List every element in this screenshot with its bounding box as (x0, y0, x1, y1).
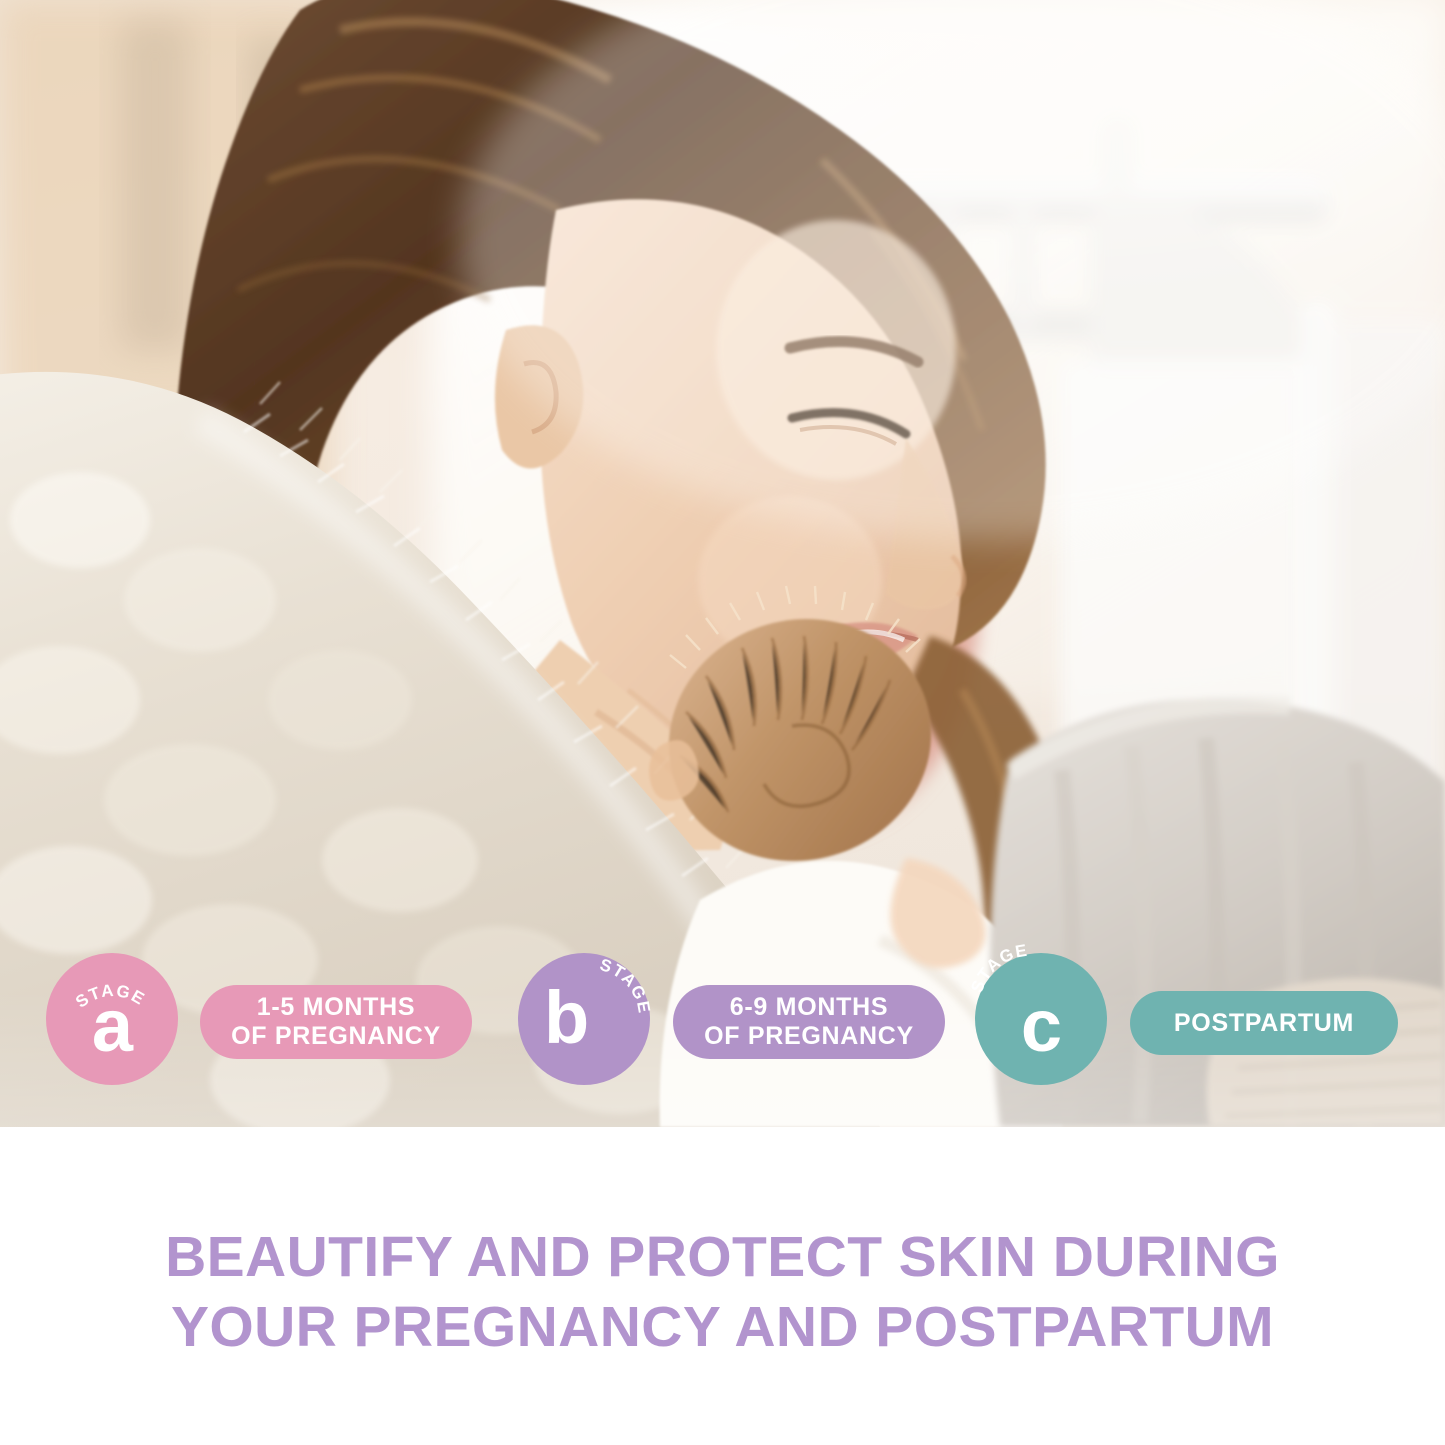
stage-a-pill-line2: OF PREGNANCY (231, 1022, 441, 1050)
stage-b-pill[interactable]: 6-9 MONTHS OF PREGNANCY (673, 985, 945, 1059)
stage-c-circle[interactable]: STAGE c (975, 953, 1107, 1085)
stage-a-letter: a (46, 989, 178, 1063)
stage-c-pill-line1: POSTPARTUM (1174, 1009, 1354, 1038)
stage-b-circle[interactable]: STAGE b (518, 953, 650, 1085)
stage-badge-row: STAGE a 1-5 MONTHS OF PREGNANCY STAGE b (0, 953, 1445, 1088)
headline-line-2: YOUR PREGNANCY AND POSTPARTUM (0, 1292, 1445, 1362)
stage-c-letter: c (975, 989, 1107, 1063)
stage-a-pill-line1: 1-5 MONTHS (257, 993, 415, 1021)
headline: BEAUTIFY AND PROTECT SKIN DURING YOUR PR… (0, 1222, 1445, 1362)
headline-line-1: BEAUTIFY AND PROTECT SKIN DURING (0, 1222, 1445, 1292)
product-banner: STAGE a 1-5 MONTHS OF PREGNANCY STAGE b (0, 0, 1445, 1445)
stage-b-pill-line1: 6-9 MONTHS (730, 993, 888, 1021)
stage-b-letter: b (518, 981, 676, 1055)
stage-b-pill-line2: OF PREGNANCY (704, 1022, 914, 1050)
stage-a-circle[interactable]: STAGE a (46, 953, 178, 1085)
stage-c-pill[interactable]: POSTPARTUM (1130, 991, 1398, 1055)
stage-a-pill[interactable]: 1-5 MONTHS OF PREGNANCY (200, 985, 472, 1059)
